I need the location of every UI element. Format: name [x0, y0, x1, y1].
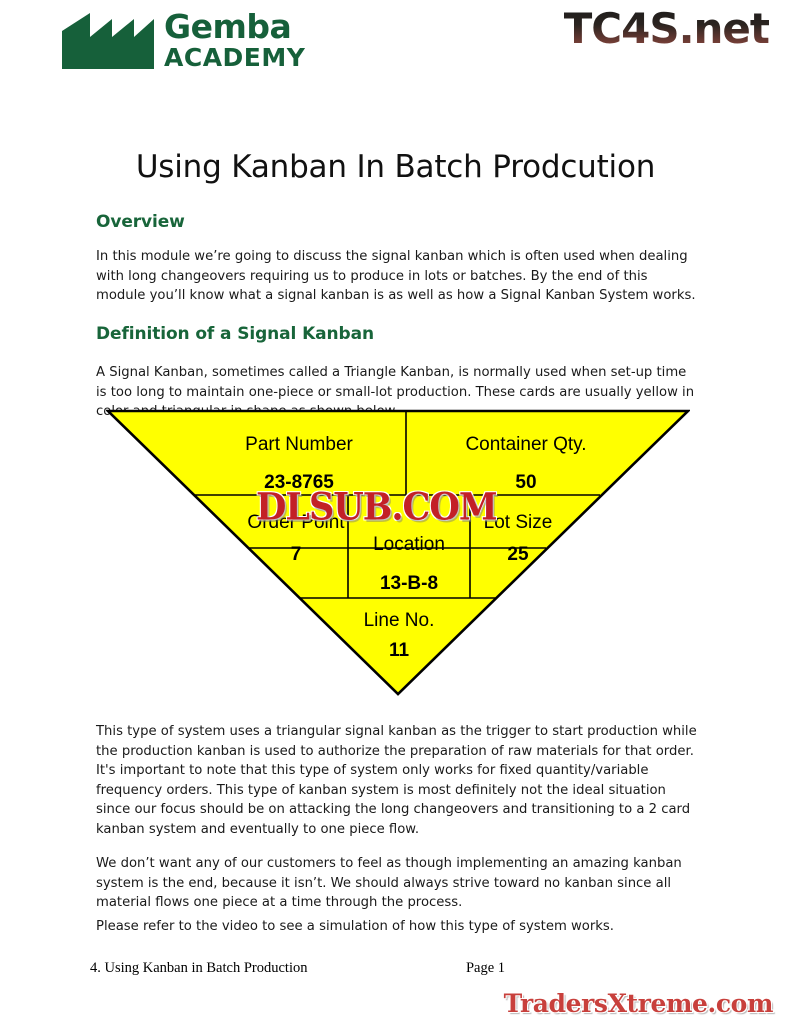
section-heading-definition: Definition of a Signal Kanban — [96, 324, 374, 344]
system-description-paragraph: This type of system uses a triangular si… — [96, 722, 698, 839]
kanban-triangle-svg: Part Number 23-8765 Container Qty. 50 Or… — [106, 408, 690, 696]
factory-icon — [62, 11, 154, 69]
kanban-value-location: 13-B-8 — [380, 573, 438, 594]
dlsub-watermark-text: DLSUB.COM — [256, 486, 497, 529]
kanban-value-order-point: 7 — [291, 544, 302, 565]
overview-paragraph: In this module we’re going to discuss th… — [96, 247, 698, 306]
brand-subtitle: ACADEMY — [164, 45, 305, 70]
kanban-label-part-number: Part Number — [245, 434, 353, 455]
page-footer: 4. Using Kanban in Batch Production Page… — [0, 952, 791, 1024]
signal-kanban-triangle-diagram: Part Number 23-8765 Container Qty. 50 Or… — [106, 408, 690, 696]
gemba-academy-logo: Gemba ACADEMY — [62, 10, 305, 70]
document-page: Gemba ACADEMY TC4S.net Using Kanban In B… — [0, 0, 791, 1024]
kanban-label-location: Location — [373, 534, 445, 555]
section-heading-overview: Overview — [96, 212, 185, 232]
brand-wordmark: Gemba ACADEMY — [164, 10, 305, 70]
footer-page-number: Page 1 — [0, 960, 791, 977]
tc4s-net-logo: TC4S.net — [564, 4, 769, 53]
kanban-value-container-qty: 50 — [515, 472, 536, 493]
brand-name: Gemba — [164, 10, 305, 43]
page-header: Gemba ACADEMY TC4S.net — [0, 0, 791, 95]
customers-paragraph: We don’t want any of our customers to fe… — [96, 854, 698, 913]
tradersxtreme-watermark: TradersXtreme.com — [504, 989, 773, 1018]
kanban-label-line-no: Line No. — [364, 610, 435, 631]
page-title: Using Kanban In Batch Prodcution — [0, 149, 791, 185]
kanban-value-line-no: 11 — [389, 640, 410, 661]
dlsub-watermark: DLSUB.COM — [256, 486, 497, 529]
video-reference-paragraph: Please refer to the video to see a simul… — [96, 917, 698, 937]
kanban-value-lot-size: 25 — [507, 544, 529, 565]
kanban-label-container-qty: Container Qty. — [465, 434, 586, 455]
